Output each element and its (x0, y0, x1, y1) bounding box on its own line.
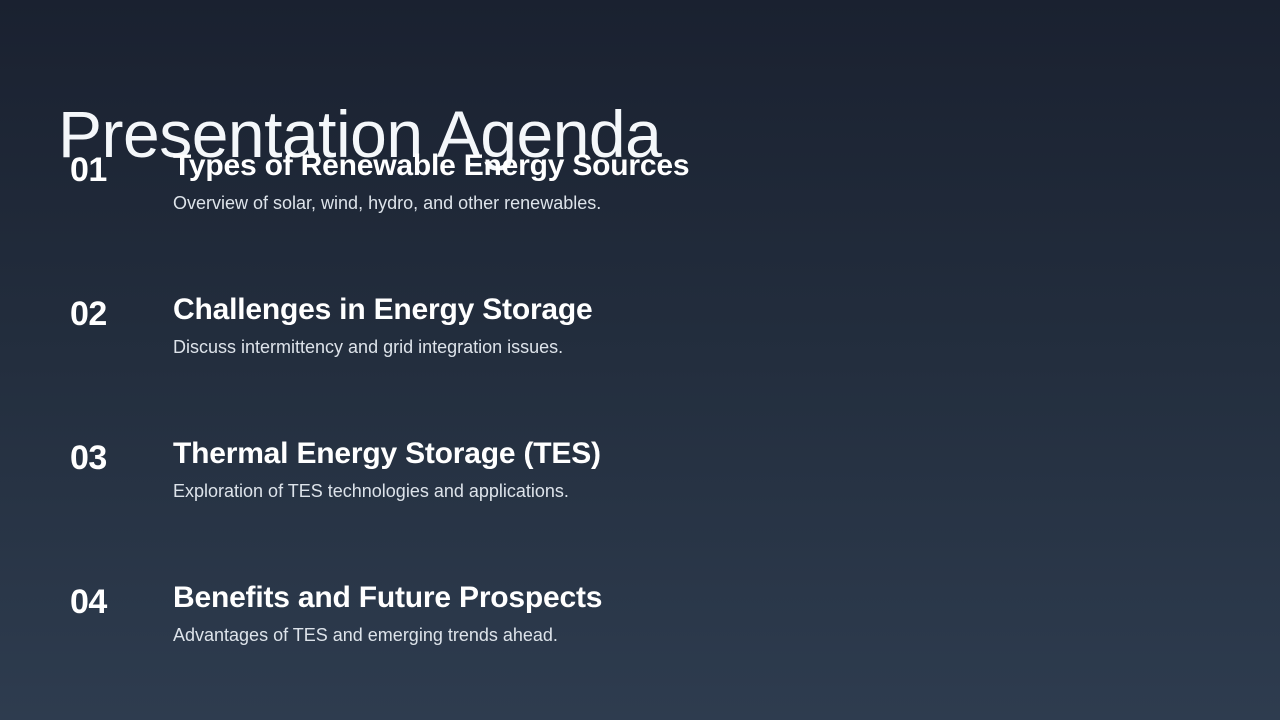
agenda-item: 02 Challenges in Energy Storage Discuss … (0, 292, 1280, 436)
agenda-item: 01 Types of Renewable Energy Sources Ove… (0, 148, 1280, 292)
agenda-item-description: Advantages of TES and emerging trends ah… (173, 623, 1240, 647)
agenda-item-number: 03 (70, 436, 160, 480)
agenda-item-body: Thermal Energy Storage (TES) Exploration… (173, 436, 1240, 503)
agenda-item-heading: Types of Renewable Energy Sources (173, 148, 1240, 184)
agenda-item-number: 01 (70, 148, 160, 192)
agenda-item-number: 02 (70, 292, 160, 336)
agenda-item-body: Challenges in Energy Storage Discuss int… (173, 292, 1240, 359)
agenda-item-number: 04 (70, 580, 160, 624)
agenda-item: 03 Thermal Energy Storage (TES) Explorat… (0, 436, 1280, 580)
agenda-item-heading: Benefits and Future Prospects (173, 580, 1240, 616)
agenda-item-description: Exploration of TES technologies and appl… (173, 479, 1240, 503)
agenda-list: 01 Types of Renewable Energy Sources Ove… (0, 148, 1280, 720)
agenda-item-heading: Thermal Energy Storage (TES) (173, 436, 1240, 472)
agenda-item: 04 Benefits and Future Prospects Advanta… (0, 580, 1280, 720)
agenda-item-body: Types of Renewable Energy Sources Overvi… (173, 148, 1240, 215)
agenda-item-heading: Challenges in Energy Storage (173, 292, 1240, 328)
agenda-item-body: Benefits and Future Prospects Advantages… (173, 580, 1240, 647)
agenda-item-description: Overview of solar, wind, hydro, and othe… (173, 191, 1240, 215)
agenda-slide: Presentation Agenda 01 Types of Renewabl… (0, 0, 1280, 720)
agenda-item-description: Discuss intermittency and grid integrati… (173, 335, 1240, 359)
